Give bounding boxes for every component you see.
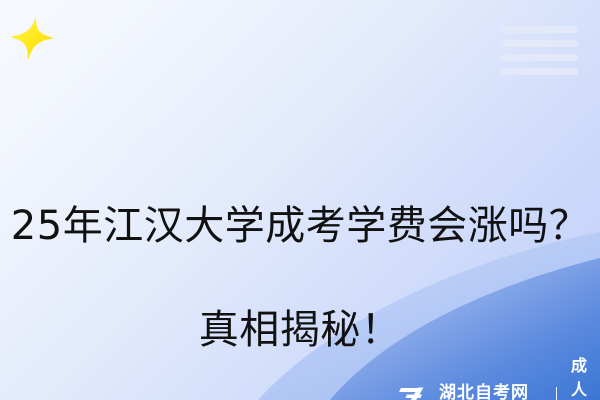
dot-1	[503, 12, 510, 19]
bar-2	[500, 40, 578, 47]
site-logo[interactable]: 湖北自考网 www.hbzkw.com 成人高考	[398, 352, 600, 400]
document-lines-decoration	[500, 12, 578, 64]
sparkle-star-icon	[8, 14, 56, 62]
logo-site-name: 湖北自考网	[439, 385, 544, 400]
decoration-dots-row	[503, 12, 578, 19]
dot-3	[533, 12, 540, 19]
bar-3	[500, 54, 578, 61]
dot-2	[518, 12, 525, 19]
title-line-1: 25年江汉大学成考学费会涨吗？	[0, 200, 600, 252]
logo-divider	[556, 387, 557, 400]
bar-1	[500, 26, 578, 33]
promo-banner: 25年江汉大学成考学费会涨吗？ 真相揭秘！ 湖北自考网 www.hbzkw.co…	[0, 0, 600, 400]
bar-4	[500, 68, 578, 75]
hbzkw-z-mark-icon	[398, 385, 432, 400]
title-line-2: 真相揭秘！	[0, 304, 600, 356]
logo-tagline: 成人高考	[571, 352, 600, 400]
logo-text-block: 湖北自考网 www.hbzkw.com	[439, 385, 544, 400]
